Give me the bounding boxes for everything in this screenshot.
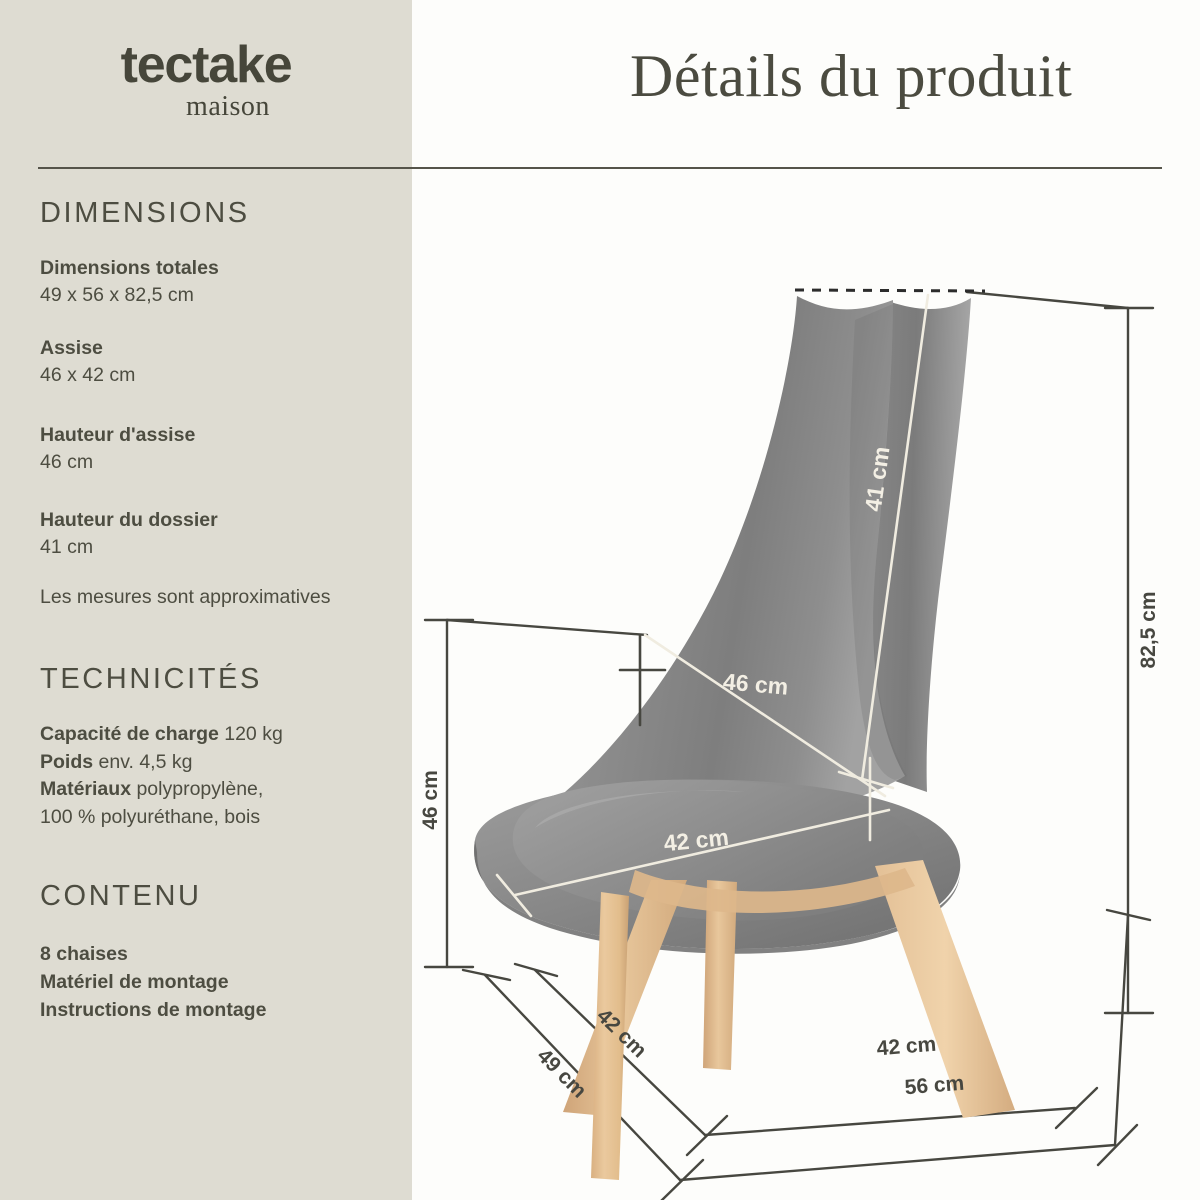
- spec-label: Dimensions totales: [40, 255, 390, 282]
- callout-overall-height: 82,5 cm: [1137, 591, 1160, 668]
- callout-seat-height: 46 cm: [419, 770, 442, 830]
- chair-illustration: 41 cm 46 cm 42 cm 46 cm 82,5 cm 42 cm 49…: [415, 180, 1200, 1200]
- header-divider: [38, 167, 1162, 169]
- spec-value: 46 cm: [40, 449, 390, 476]
- spec-label: Hauteur du dossier: [40, 507, 390, 534]
- spec-seat: Assise 46 x 42 cm: [40, 335, 390, 389]
- page-title: Détails du produit: [630, 42, 1072, 111]
- tech-spec-list: Capacité de charge 120 kg Poids env. 4,5…: [40, 721, 400, 831]
- brand-tagline: maison: [0, 91, 412, 123]
- tech-label: Matériaux: [40, 778, 131, 800]
- list-item: 8 chaises: [40, 940, 400, 968]
- spec-label: Hauteur d'assise: [40, 422, 390, 449]
- tech-row-weight: Poids env. 4,5 kg: [40, 749, 400, 777]
- product-detail-sheet: tectake maison Détails du produit DIMENS…: [0, 0, 1200, 1200]
- callout-floor-right-outer: 56 cm: [904, 1072, 965, 1100]
- spec-label: Assise: [40, 335, 390, 362]
- tech-materials-continuation: 100 % polyuréthane, bois: [40, 804, 400, 832]
- tech-row-materials: Matériaux polypropylène,: [40, 776, 400, 804]
- measurements-note: Les mesures sont approximatives: [40, 586, 330, 609]
- contenu-item-list: 8 chaises Matériel de montage Instructio…: [40, 940, 400, 1024]
- list-item: Instructions de montage: [40, 996, 400, 1024]
- tech-label: Capacité de charge: [40, 723, 219, 745]
- brand-name: tectake: [0, 38, 412, 93]
- callout-floor-right-inner: 42 cm: [876, 1033, 937, 1061]
- section-heading-technicites: TECHNICITÉS: [40, 663, 262, 696]
- tech-value: 120 kg: [219, 723, 283, 745]
- tech-value: env. 4,5 kg: [93, 751, 192, 773]
- dimension-lines-floor: [463, 910, 1150, 1200]
- spec-value: 41 cm: [40, 534, 390, 561]
- spec-total-dimensions: Dimensions totales 49 x 56 x 82,5 cm: [40, 255, 390, 309]
- tech-label: Poids: [40, 751, 93, 773]
- dimension-top-dashed-line: [795, 290, 985, 291]
- dimension-overall-height: [967, 292, 1153, 1013]
- spec-value: 49 x 56 x 82,5 cm: [40, 282, 390, 309]
- tech-value: polypropylène,: [131, 778, 263, 800]
- section-heading-contenu: CONTENU: [40, 880, 202, 913]
- spec-seat-height: Hauteur d'assise 46 cm: [40, 422, 390, 476]
- section-heading-dimensions: DIMENSIONS: [40, 197, 250, 230]
- tech-row-load: Capacité de charge 120 kg: [40, 721, 400, 749]
- spec-value: 46 x 42 cm: [40, 362, 390, 389]
- brand-logo: tectake maison: [0, 38, 412, 123]
- spec-backrest-height: Hauteur du dossier 41 cm: [40, 507, 390, 561]
- list-item: Matériel de montage: [40, 968, 400, 996]
